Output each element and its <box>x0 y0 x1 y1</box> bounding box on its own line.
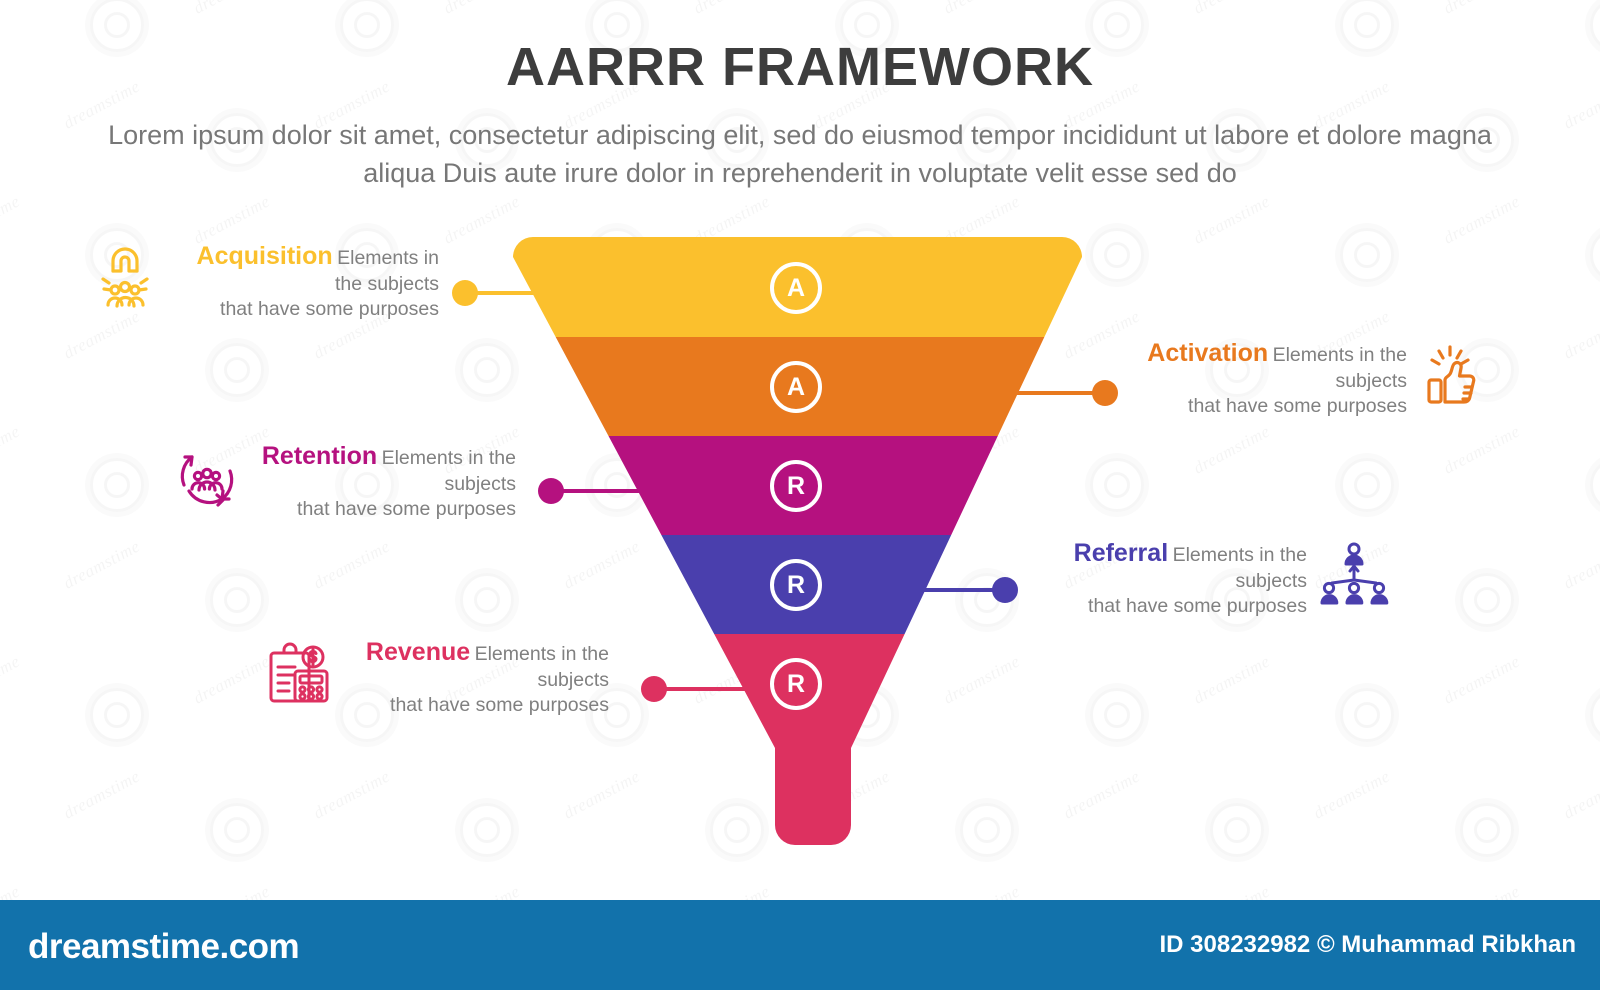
connector-dot <box>1092 380 1118 406</box>
badge-letter: R <box>787 571 805 600</box>
dreamstime-logo[interactable]: dreamstime.com <box>28 927 299 967</box>
refresh-people-icon <box>172 443 242 513</box>
funnel-badge-revenue: R <box>770 658 822 710</box>
item-title: Acquisition <box>197 242 333 270</box>
connector-retention <box>538 478 678 504</box>
connector-dot <box>452 280 478 306</box>
badge-letter: A <box>787 274 805 303</box>
connector-dot <box>538 478 564 504</box>
thumbs-up-icon <box>1419 340 1489 410</box>
connector-revenue <box>641 676 783 702</box>
infographic-canvas: dreamstimedreamstimedreamstimedreamstime… <box>0 0 1600 990</box>
connector-activation <box>990 380 1118 406</box>
item-text: Revenue Elements in the subjects that ha… <box>347 639 609 719</box>
connector-line <box>890 588 1006 592</box>
connector-line <box>990 391 1106 395</box>
footer-bar: dreamstime.com ID 308232982 © Muhammad R… <box>0 900 1600 990</box>
image-credit: ID 308232982 © Muhammad Ribkhan <box>1159 931 1576 959</box>
funnel-badge-activation: A <box>770 361 822 413</box>
item-text: Acquisition Elements in the subjects tha… <box>177 243 439 323</box>
badge-letter: R <box>787 472 805 501</box>
connector-acquisition <box>452 280 592 306</box>
item-text: Activation Elements in the subjects that… <box>1145 340 1407 420</box>
connector-line <box>654 687 776 691</box>
item-retention[interactable]: Retention Elements in the subjects that … <box>172 443 517 523</box>
funnel-badge-acquisition: A <box>770 262 822 314</box>
connector-dot <box>641 676 667 702</box>
item-revenue[interactable]: Revenue Elements in the subjects that ha… <box>265 639 610 719</box>
item-title: Referral <box>1074 539 1169 567</box>
connector-line <box>551 489 671 493</box>
item-title: Revenue <box>366 638 470 666</box>
item-acquisition[interactable]: Acquisition Elements in the subjects tha… <box>95 243 440 323</box>
item-text: Retention Elements in the subjects that … <box>254 443 516 523</box>
connector-dot <box>992 577 1018 603</box>
item-referral[interactable]: Referral Elements in the subjects that h… <box>1045 540 1395 620</box>
connector-referral <box>890 577 1018 603</box>
page-subtitle: Lorem ipsum dolor sit amet, consectetur … <box>90 116 1510 193</box>
header: AARRR FRAMEWORK Lorem ipsum dolor sit am… <box>0 36 1600 193</box>
network-people-icon <box>1319 540 1389 610</box>
connector-line <box>465 291 581 295</box>
funnel-badge-retention: R <box>770 460 822 512</box>
invoice-money-icon <box>265 639 335 709</box>
badge-letter: A <box>787 373 805 402</box>
magnet-people-icon <box>95 243 165 313</box>
funnel-badge-referral: R <box>770 559 822 611</box>
item-title: Activation <box>1147 339 1268 367</box>
item-title: Retention <box>262 442 377 470</box>
item-text: Referral Elements in the subjects that h… <box>1045 540 1307 620</box>
item-activation[interactable]: Activation Elements in the subjects that… <box>1145 340 1495 420</box>
page-title: AARRR FRAMEWORK <box>0 36 1600 98</box>
badge-letter: R <box>787 670 805 699</box>
